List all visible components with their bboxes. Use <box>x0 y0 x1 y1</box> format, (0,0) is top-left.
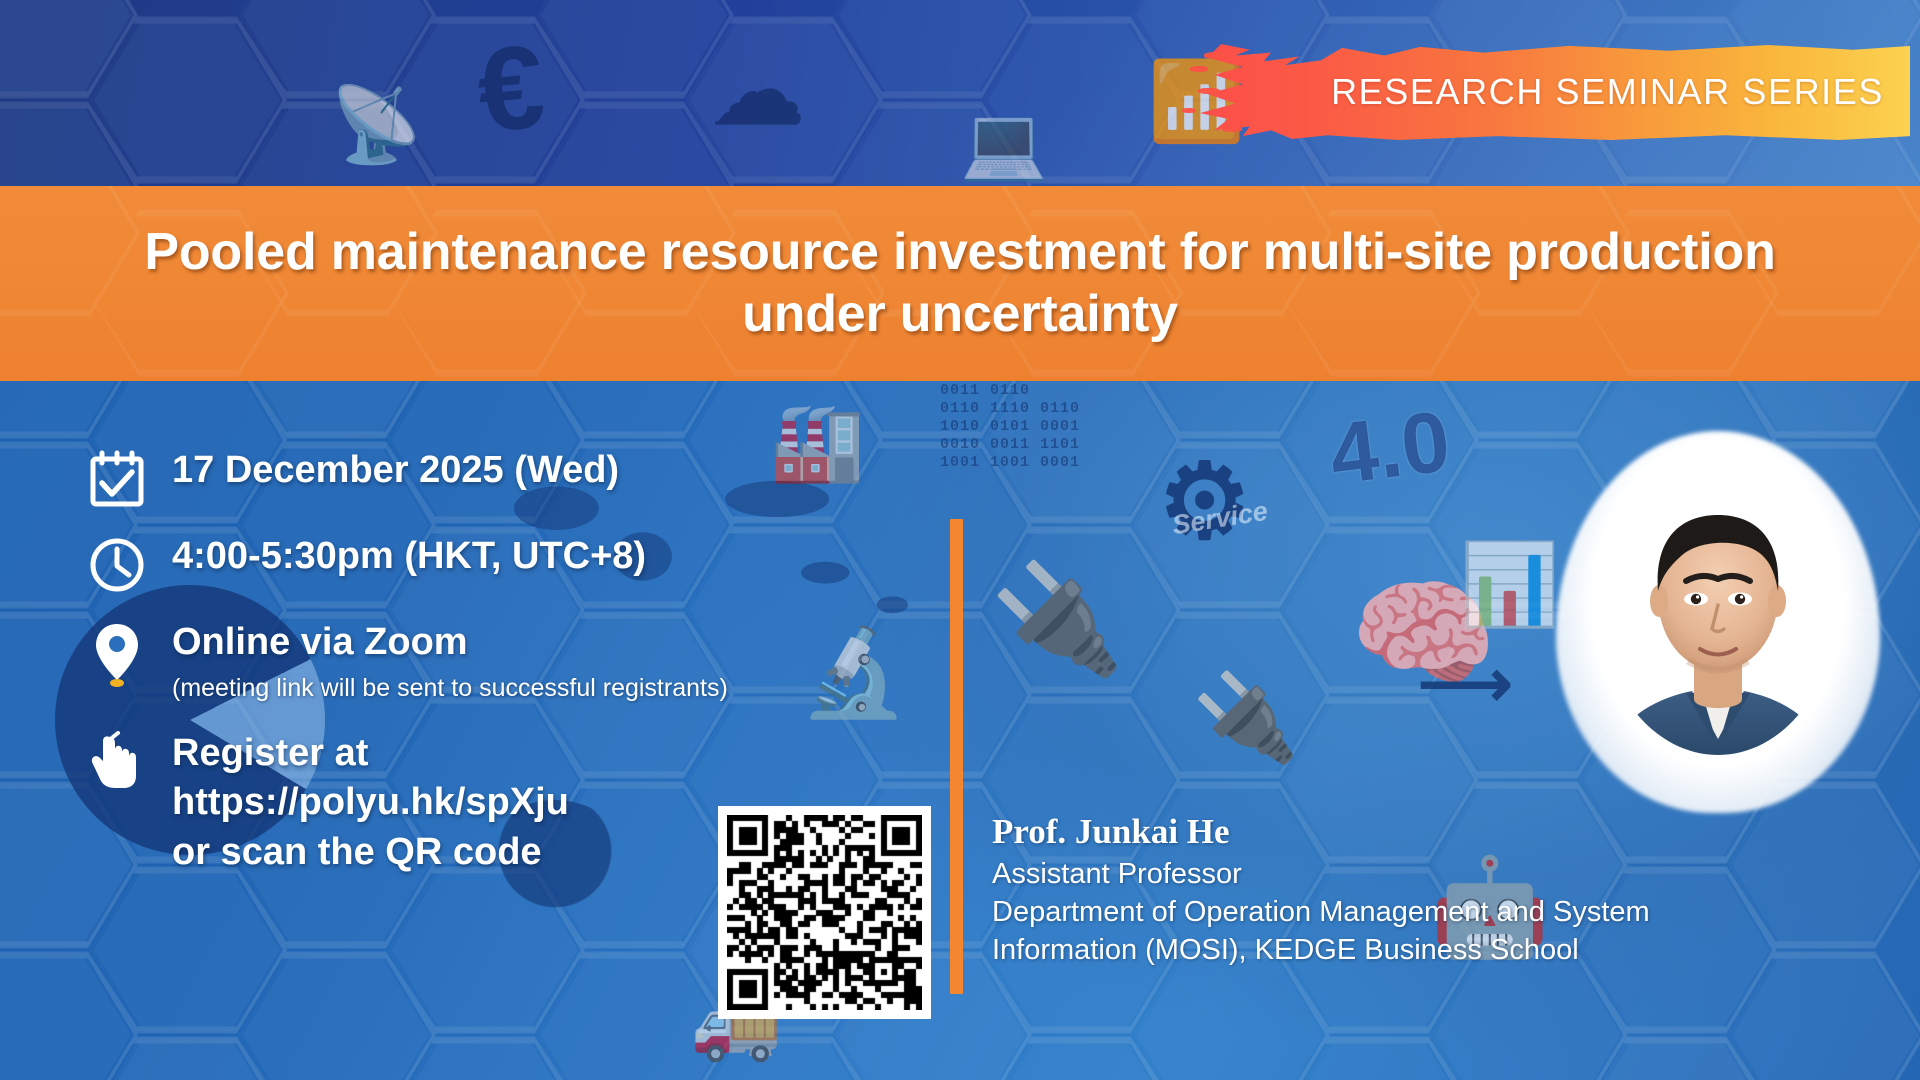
speaker-title: Assistant Professor <box>992 856 1822 894</box>
calendar-check-icon <box>88 448 172 508</box>
detail-row-time: 4:00-5:30pm (HKT, UTC+8) <box>88 534 968 594</box>
qr-code-canvas[interactable] <box>727 815 922 1010</box>
register-line-3: or scan the QR code <box>172 828 569 877</box>
speaker-name: Prof. Junkai He <box>992 812 1822 852</box>
brush-speck-2 <box>1190 66 1208 72</box>
banner-title: RESEARCH SEMINAR SERIES <box>1331 56 1884 128</box>
brush-speck-5 <box>1222 126 1242 132</box>
title-band: Pooled maintenance resource investment f… <box>0 186 1920 381</box>
speaker-affiliation-line-1: Department of Operation Management and S… <box>992 894 1822 932</box>
detail-time-text: 4:00-5:30pm (HKT, UTC+8) <box>172 534 646 579</box>
brush-speck-4 <box>1182 108 1196 113</box>
detail-venue-text: Online via Zoom <box>172 620 728 665</box>
location-pin-icon <box>88 620 172 688</box>
page-title: Pooled maintenance resource investment f… <box>35 222 1885 345</box>
detail-date-text: 17 December 2025 (Wed) <box>172 448 619 493</box>
clock-icon <box>88 534 172 594</box>
detail-row-date: 17 December 2025 (Wed) <box>88 448 968 508</box>
brush-speck-3 <box>1198 88 1220 94</box>
speaker-portrait-image <box>1582 455 1854 785</box>
page-title-line-1: Pooled maintenance resource investment f… <box>144 223 1775 281</box>
vertical-divider <box>950 519 963 994</box>
brush-speck-1 <box>1204 52 1230 59</box>
register-url[interactable]: https://polyu.hk/spXju <box>172 778 569 827</box>
speaker-affiliation-line-2: Information (MOSI), KEDGE Business Schoo… <box>992 932 1822 970</box>
detail-venue-block: Online via Zoom (meeting link will be se… <box>172 620 728 703</box>
pointing-hand-icon <box>88 729 172 791</box>
detail-venue-note: (meeting link will be sent to successful… <box>172 673 728 703</box>
speaker-details: Prof. Junkai He Assistant Professor Depa… <box>992 812 1822 969</box>
detail-register-text: Register at https://polyu.hk/spXju or sc… <box>172 729 569 877</box>
speaker-photo <box>1582 455 1854 785</box>
qr-code[interactable] <box>718 806 931 1019</box>
register-line-1: Register at <box>172 729 569 778</box>
detail-row-venue: Online via Zoom (meeting link will be se… <box>88 620 968 703</box>
seminar-poster: € ☁ 📶 ⚙ Service 🧠 🤖 🔌 🏭 🔬 🚚 🔌 📊 ⟶ 4.0 00… <box>0 0 1920 1080</box>
page-title-line-2: under uncertainty <box>742 285 1178 343</box>
